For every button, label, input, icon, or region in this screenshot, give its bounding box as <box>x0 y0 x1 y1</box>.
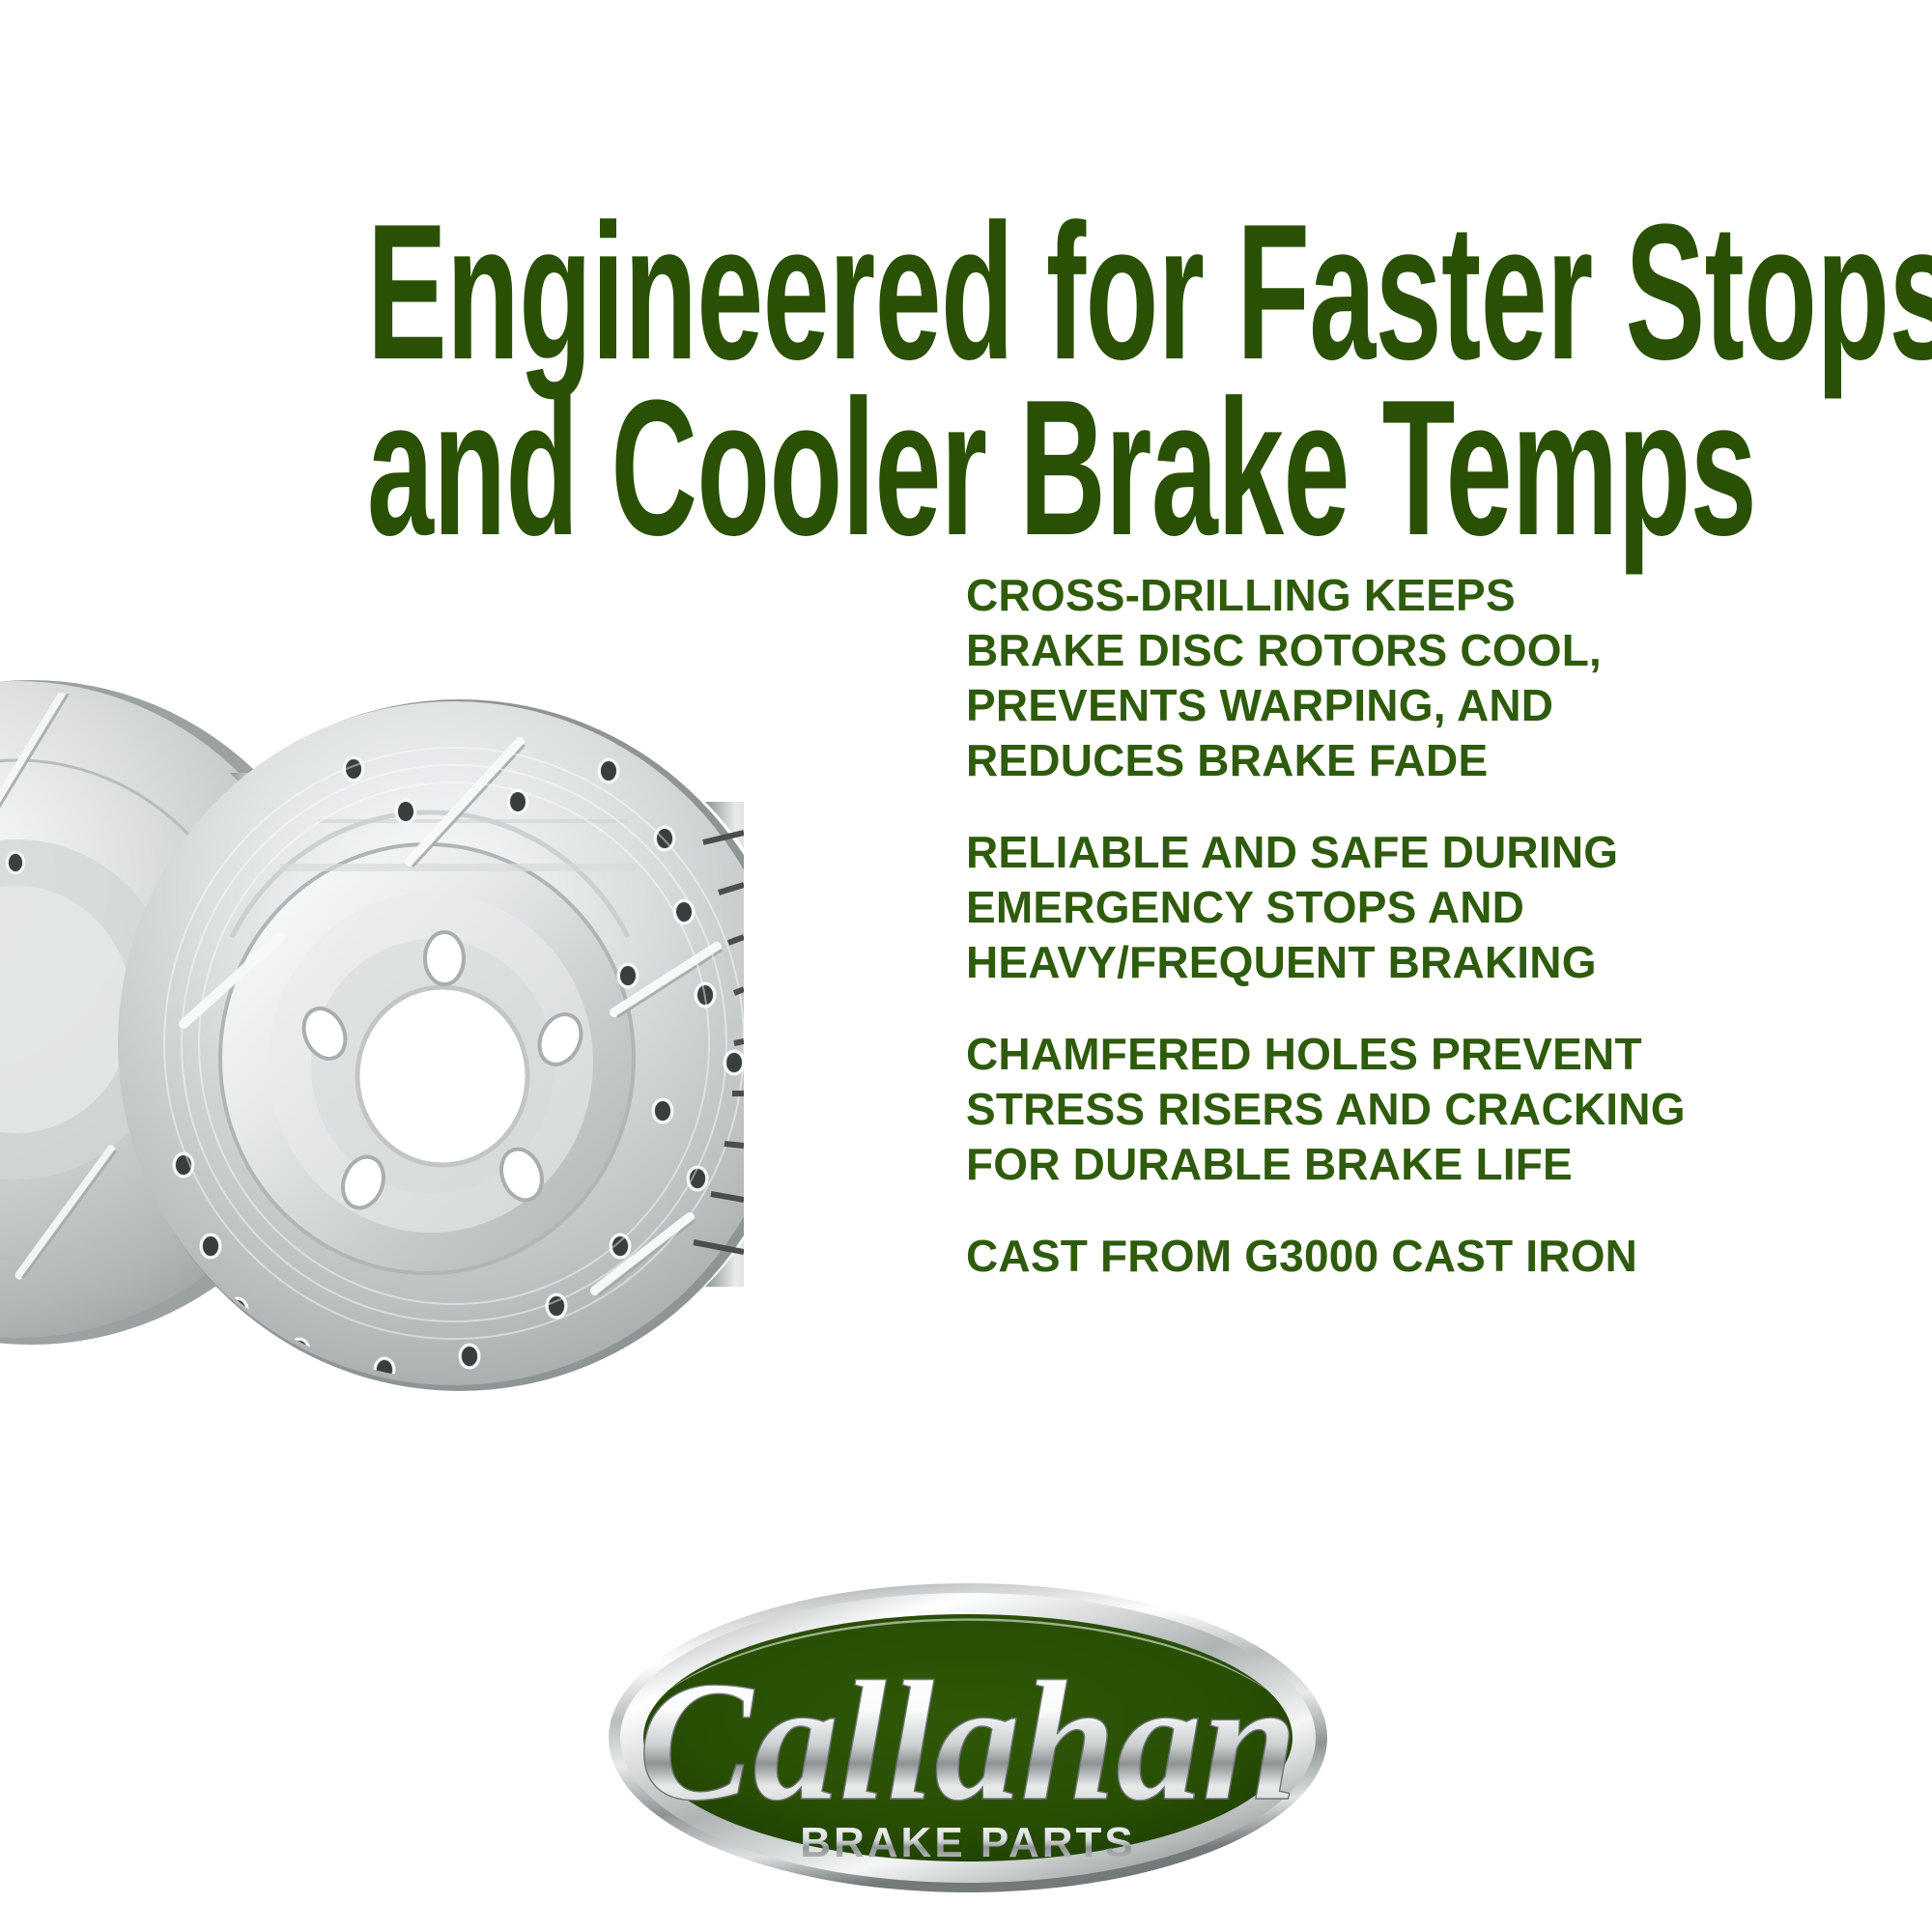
feature-line: HEAVY/FREQUENT BRAKING <box>966 935 1584 990</box>
feature-line: BRAKE DISC ROTORS COOL, <box>966 623 1584 678</box>
product-image-rotors <box>0 483 744 1604</box>
feature-line: CHAMFERED HOLES PREVENT <box>966 1027 1584 1082</box>
logo-tagline: BRAKE PARTS <box>800 1819 1136 1866</box>
feature-block-1: CROSS-DRILLING KEEPS BRAKE DISC ROTORS C… <box>966 568 1584 788</box>
headline-line-1: Engineered for Faster Stops <box>367 205 1565 381</box>
logo-oval: Callahan BRAKE PARTS <box>607 1578 1329 1897</box>
headline-line-2: and Cooler Brake Temps <box>367 381 1565 556</box>
rotor-front <box>118 699 744 1499</box>
logo-script-callahan: Callahan <box>639 1645 1298 1836</box>
feature-block-2: RELIABLE AND SAFE DURING EMERGENCY STOPS… <box>966 825 1584 990</box>
feature-line: PREVENTS WARPING, AND <box>966 678 1584 733</box>
feature-block-4: CAST FROM G3000 CAST IRON <box>966 1229 1584 1284</box>
feature-line: REDUCES BRAKE FADE <box>966 733 1584 788</box>
feature-list: CROSS-DRILLING KEEPS BRAKE DISC ROTORS C… <box>966 568 1584 1284</box>
feature-line: RELIABLE AND SAFE DURING <box>966 825 1584 880</box>
feature-line: CROSS-DRILLING KEEPS <box>966 568 1584 623</box>
feature-block-3: CHAMFERED HOLES PREVENT STRESS RISERS AN… <box>966 1027 1584 1192</box>
callahan-brand-logo: Callahan BRAKE PARTS <box>607 1578 1329 1897</box>
feature-line: CAST FROM G3000 CAST IRON <box>966 1229 1584 1284</box>
feature-line: FOR DURABLE BRAKE LIFE <box>966 1137 1584 1192</box>
page-title: Engineered for Faster Stops and Cooler B… <box>367 205 1565 556</box>
feature-line: STRESS RISERS AND CRACKING <box>966 1082 1584 1137</box>
feature-line: EMERGENCY STOPS AND <box>966 880 1584 935</box>
brake-rotor-illustration <box>0 483 744 1604</box>
